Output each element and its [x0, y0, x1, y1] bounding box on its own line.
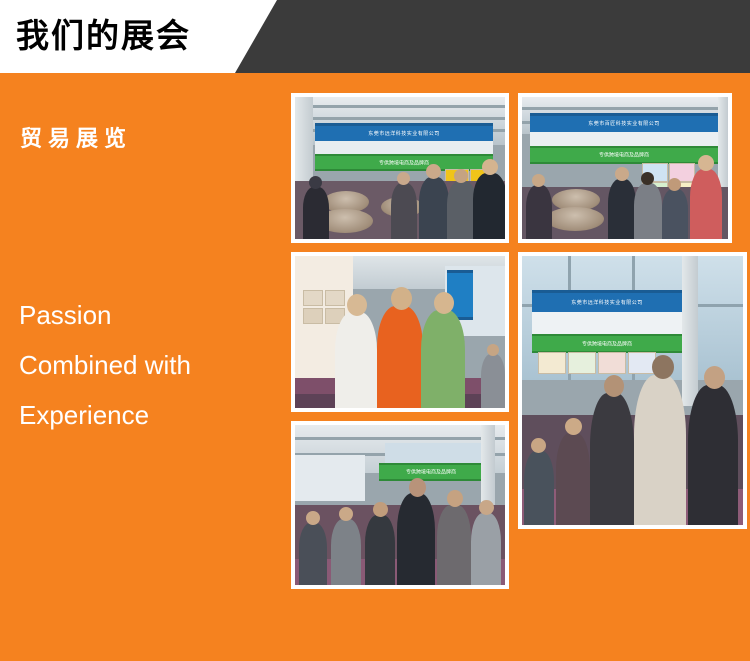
- green-banner-text: 专供跨境电商及品牌商: [530, 152, 718, 159]
- green-banner-5: 专供跨境电商及品牌商: [379, 463, 483, 481]
- booth-banner-text: 东莞市远洋科技实业有限公司: [315, 130, 493, 137]
- booth-banner-text: 东莞市远洋科技实业有限公司: [532, 299, 682, 306]
- green-banner-text: 专供跨境电商及品牌商: [379, 469, 483, 476]
- page-title: 我们的展会: [16, 14, 191, 58]
- photo-2-image: 东莞市百匠科技实业有限公司 专供跨境电商及品牌商: [522, 97, 728, 239]
- exhibition-photo-3: [291, 252, 509, 412]
- green-banner-text: 专供跨境电商及品牌商: [315, 159, 493, 166]
- slogan-block: Passion Combined with Experience: [19, 290, 269, 440]
- photo-5-image: 专供跨境电商及品牌商: [295, 425, 505, 585]
- photo-1-image: 东莞市远洋科技实业有限公司 专供跨境电商及品牌商: [295, 97, 505, 239]
- photo-4-image: 东莞市远洋科技实业有限公司 专供跨境电商及品牌商: [522, 256, 743, 525]
- green-banner-text: 专供跨境电商及品牌商: [532, 340, 682, 347]
- exhibition-photo-4: 东莞市远洋科技实业有限公司 专供跨境电商及品牌商: [518, 252, 747, 529]
- section-subtitle: 贸易展览: [20, 121, 132, 153]
- booth-banner-text: 东莞市百匠科技实业有限公司: [530, 120, 718, 127]
- exhibition-photo-2: 东莞市百匠科技实业有限公司 专供跨境电商及品牌商: [518, 93, 732, 243]
- header-banner: 我们的展会: [0, 0, 750, 73]
- slogan-line-2: Combined with: [19, 340, 269, 390]
- page-root: 我们的展会 贸易展览 Passion Combined with Experie…: [0, 0, 750, 661]
- exhibition-photo-1: 东莞市远洋科技实业有限公司 专供跨境电商及品牌商: [291, 93, 509, 243]
- green-banner-2: 专供跨境电商及品牌商: [530, 146, 718, 164]
- header-tag-arrow: [235, 0, 277, 73]
- slogan-line-1: Passion: [19, 290, 269, 340]
- slogan-line-3: Experience: [19, 390, 269, 440]
- exhibition-photo-5: 专供跨境电商及品牌商: [291, 421, 509, 589]
- booth-wall: [315, 141, 493, 155]
- green-banner-4: 专供跨境电商及品牌商: [532, 334, 682, 353]
- photo-3-image: [295, 256, 505, 408]
